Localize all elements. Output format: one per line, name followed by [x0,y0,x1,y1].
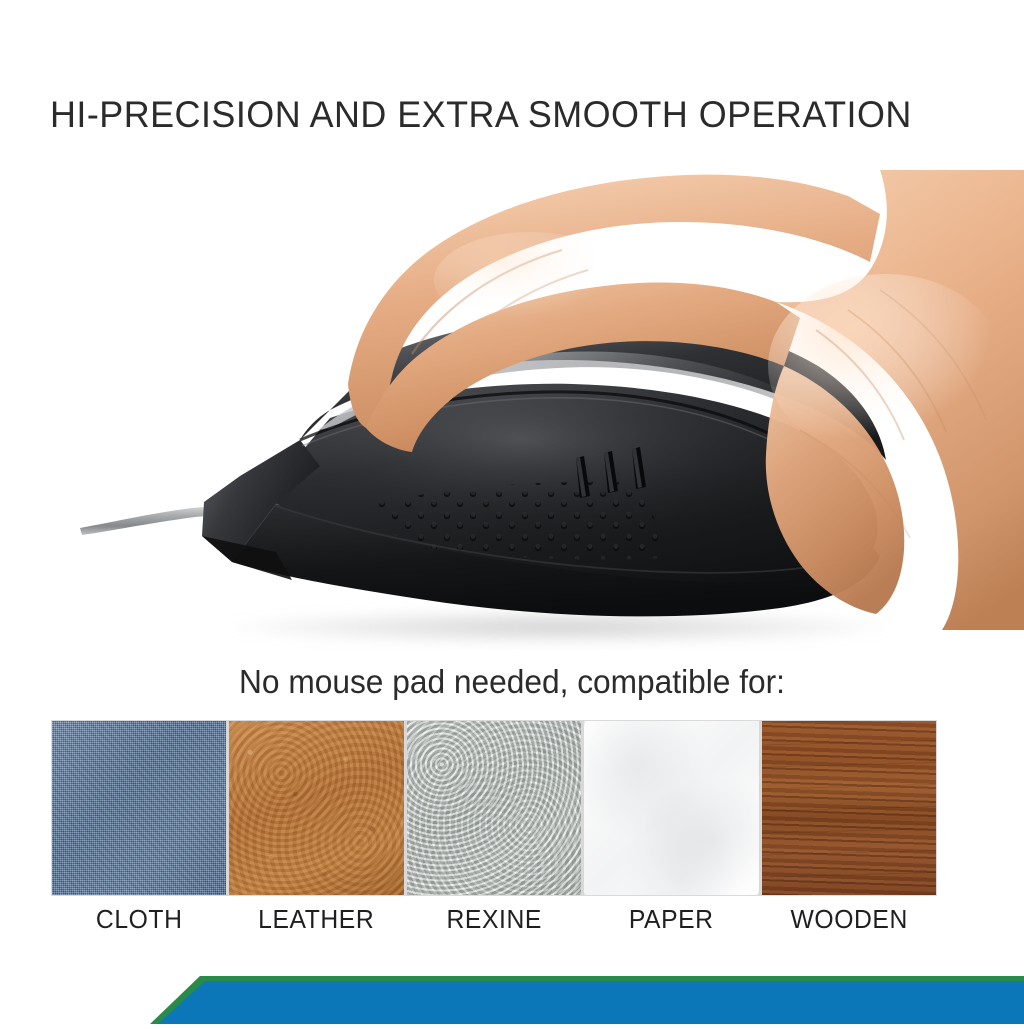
surface-label-row: CLOTH LEATHER REXINE PAPER WOODEN [52,903,936,939]
leather-swatch [229,721,403,895]
paper-swatch [584,721,758,895]
compatibility-subtitle: No mouse pad needed, compatible for: [20,662,1003,702]
swatch-label-wooden: WOODEN [766,903,932,939]
cloth-swatch [52,721,226,895]
wooden-swatch [762,721,936,895]
swatch-label-leather: LEATHER [234,903,400,939]
swatch-label-rexine: REXINE [411,903,577,939]
hand-gripping-mouse [180,170,1024,630]
swatch-label-cloth: CLOTH [56,903,222,939]
rexine-swatch [407,721,581,895]
page-title: HI-PRECISION AND EXTRA SMOOTH OPERATION [50,92,952,138]
swatch-label-paper: PAPER [589,903,755,939]
bottom-banner [0,958,1024,1024]
banner-blue-fill [158,981,1024,1024]
surface-swatch-strip [52,721,936,895]
product-photo [0,150,1024,650]
